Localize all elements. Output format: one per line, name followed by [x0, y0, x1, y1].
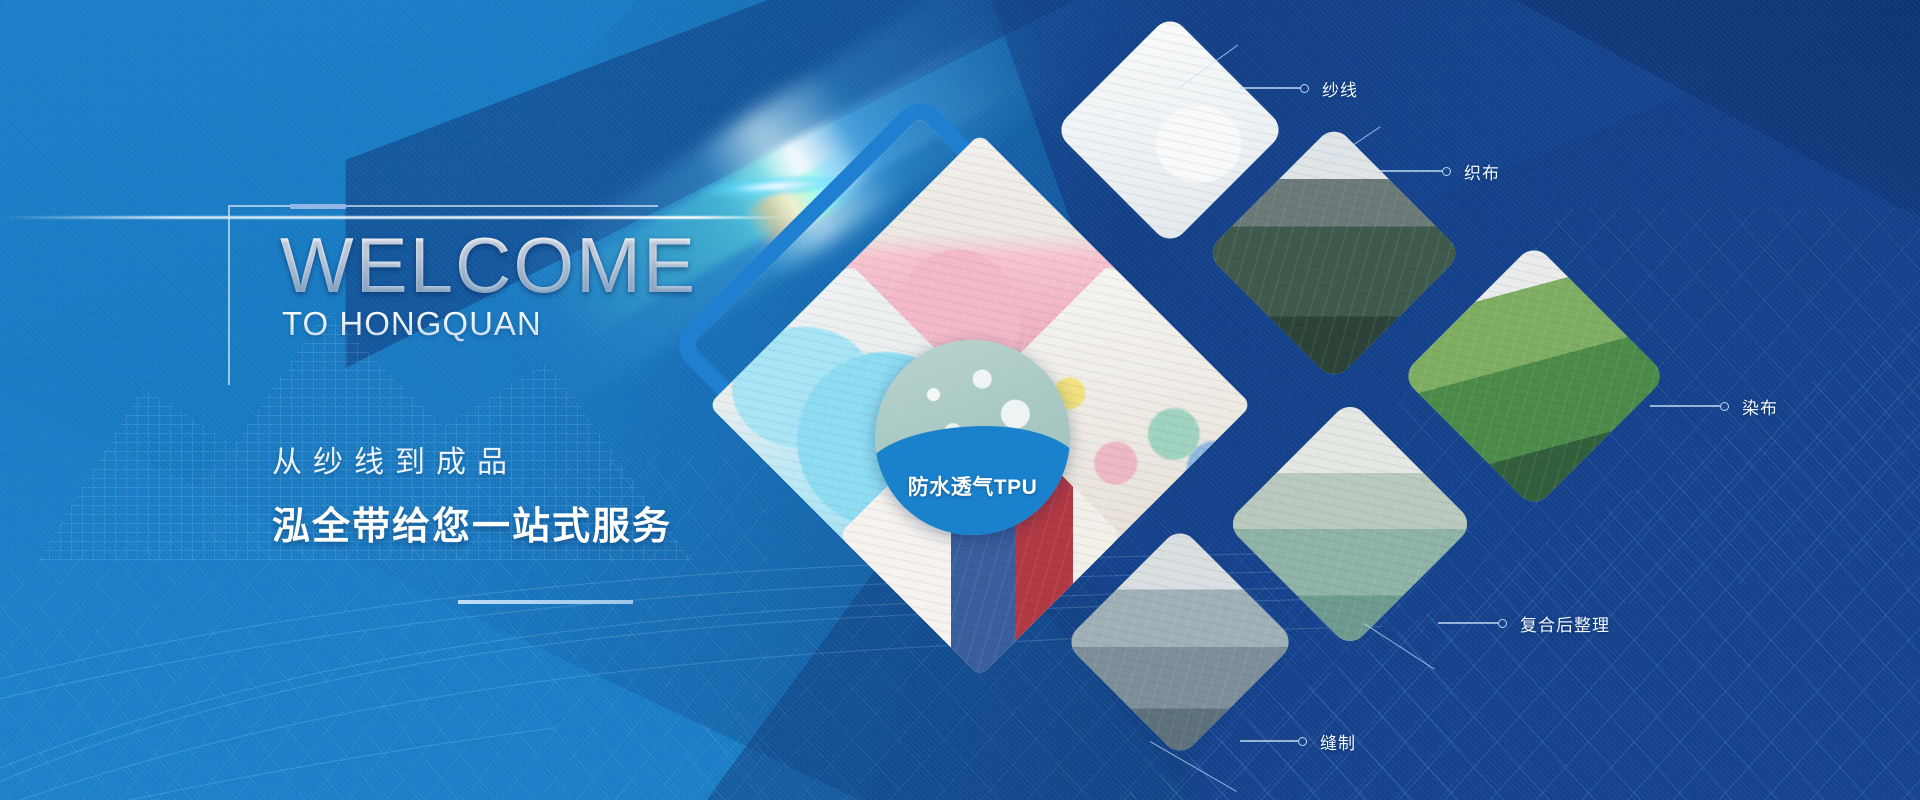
tagline-chinese: 从纱线到成品 — [272, 437, 518, 481]
bottom-accent-rule — [458, 600, 633, 604]
statement-chinese: 泓全带给您一站式服务 — [272, 495, 672, 550]
callout-label: 缝制 — [1320, 729, 1356, 754]
callout-laminating[interactable]: 复合后整理 — [1438, 610, 1610, 636]
callout-label: 复合后整理 — [1520, 611, 1610, 636]
callout-weaving[interactable]: 织布 — [1380, 158, 1500, 184]
callout-label: 染布 — [1742, 394, 1778, 419]
page-title: WELCOME — [280, 228, 788, 303]
callout-node-icon — [1298, 737, 1307, 746]
callout-node-icon — [1300, 84, 1309, 93]
callout-leader-line — [1240, 87, 1300, 88]
callout-label: 纱线 — [1322, 76, 1358, 101]
hero-banner: WELCOME TO HONGQUAN 从纱线到成品 泓全带给您一站式服务 防水… — [0, 0, 1920, 800]
callout-yarn[interactable]: 纱线 — [1240, 75, 1358, 101]
callout-node-icon — [1498, 619, 1507, 628]
callout-label: 织布 — [1464, 159, 1500, 184]
callout-leader-line — [1380, 170, 1442, 171]
accent-rule — [290, 204, 346, 209]
callout-dyeing[interactable]: 染布 — [1650, 393, 1778, 419]
callout-node-icon — [1720, 402, 1729, 411]
callout-leader-line — [1240, 740, 1298, 741]
callout-sewing[interactable]: 缝制 — [1240, 728, 1356, 754]
badge-label: 防水透气TPU — [875, 471, 1070, 501]
callout-leader-line — [1650, 405, 1720, 406]
center-badge[interactable]: 防水透气TPU — [875, 340, 1070, 535]
callout-node-icon — [1442, 167, 1451, 176]
callout-leader-line — [1438, 622, 1498, 623]
